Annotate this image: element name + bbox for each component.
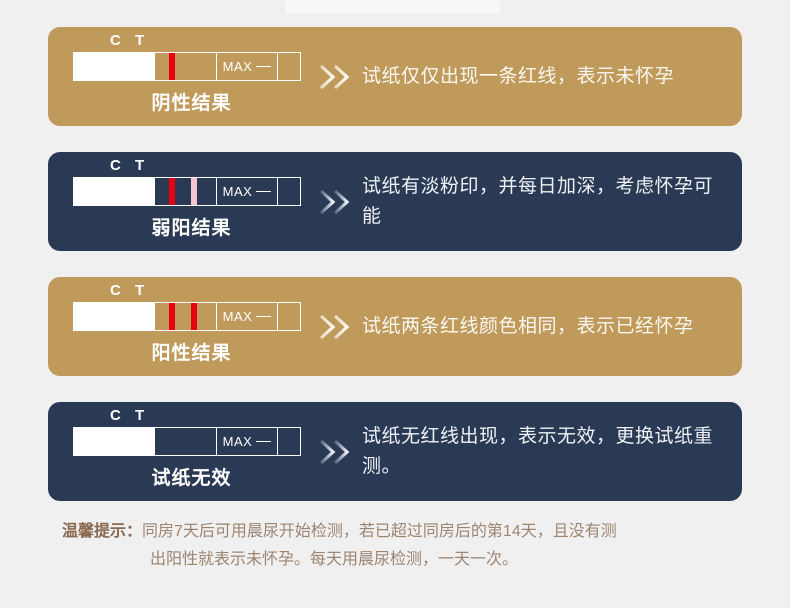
max-label: MAX	[223, 60, 253, 73]
strip-max-section: MAX	[217, 302, 278, 331]
strip-max-section: MAX	[217, 177, 278, 206]
ct-marker-label: C T	[110, 283, 149, 299]
max-dash-icon	[256, 316, 271, 318]
max-label: MAX	[223, 435, 253, 448]
result-panel-negative: C T MAX 阴性结果	[48, 27, 742, 126]
ct-marker-label: C T	[110, 408, 149, 424]
double-chevron-right-icon	[310, 60, 362, 94]
strip-absorbent-pad	[73, 52, 155, 81]
result-description: 试纸无红线出现，表示无效，更换试纸重测。	[362, 422, 742, 482]
test-line	[191, 178, 197, 205]
result-description: 试纸仅仅出现一条红线，表示未怀孕	[362, 62, 742, 92]
test-strip: MAX	[73, 177, 301, 206]
double-chevron-right-icon	[310, 435, 362, 469]
strip-end-cap	[278, 177, 301, 206]
test-line	[191, 428, 197, 455]
strip-absorbent-pad	[73, 177, 155, 206]
result-panel-weak-positive: C T MAX 弱阳结果	[48, 152, 742, 251]
warm-tip-note: 温馨提示：同房7天后可用晨尿开始检测，若已超过同房后的第14天，且没有测出阳性就…	[62, 518, 732, 574]
max-dash-icon	[256, 191, 271, 193]
double-chevron-right-icon	[310, 185, 362, 219]
strip-end-cap	[278, 52, 301, 81]
result-caption: 阳性结果	[48, 338, 310, 365]
result-caption: 阴性结果	[48, 88, 310, 115]
strip-result-window	[155, 302, 216, 331]
test-line	[191, 303, 197, 330]
warm-tip-line2: 出阳性就表示未怀孕。每天用晨尿检测，一天一次。	[62, 546, 732, 574]
strip-absorbent-pad	[73, 427, 155, 456]
control-line	[169, 53, 175, 80]
result-panel-positive: C T MAX 阳性结果	[48, 277, 742, 376]
ct-marker-label: C T	[110, 158, 149, 174]
result-panel-list: C T MAX 阴性结果	[48, 27, 742, 527]
strip-end-cap	[278, 302, 301, 331]
test-strip: MAX	[73, 302, 301, 331]
test-strip-illustration-weak-positive: C T MAX 弱阳结果	[48, 152, 310, 251]
max-dash-icon	[256, 66, 271, 68]
strip-result-window	[155, 427, 216, 456]
test-strip: MAX	[73, 427, 301, 456]
control-line	[169, 428, 175, 455]
result-caption: 弱阳结果	[48, 213, 310, 240]
max-dash-icon	[256, 441, 271, 443]
max-label: MAX	[223, 310, 253, 323]
result-description: 试纸有淡粉印，并每日加深，考虑怀孕可能	[362, 172, 742, 232]
test-strip-illustration-positive: C T MAX 阳性结果	[48, 277, 310, 376]
warm-tip-label: 温馨提示：	[62, 523, 142, 540]
test-strip: MAX	[73, 52, 301, 81]
result-caption: 试纸无效	[48, 463, 310, 490]
ct-marker-label: C T	[110, 33, 149, 49]
result-panel-invalid: C T MAX 试纸无效	[48, 402, 742, 501]
strip-result-window	[155, 177, 216, 206]
test-strip-illustration-invalid: C T MAX 试纸无效	[48, 402, 310, 501]
strip-end-cap	[278, 427, 301, 456]
test-strip-illustration-negative: C T MAX 阴性结果	[48, 27, 310, 126]
double-chevron-right-icon	[310, 310, 362, 344]
strip-max-section: MAX	[217, 52, 278, 81]
strip-result-window	[155, 52, 216, 81]
control-line	[169, 303, 175, 330]
result-description: 试纸两条红线颜色相同，表示已经怀孕	[362, 312, 742, 342]
strip-absorbent-pad	[73, 302, 155, 331]
max-label: MAX	[223, 185, 253, 198]
strip-max-section: MAX	[217, 427, 278, 456]
warm-tip-line1: 同房7天后可用晨尿开始检测，若已超过同房后的第14天，且没有测	[142, 523, 617, 540]
control-line	[169, 178, 175, 205]
test-line	[191, 53, 197, 80]
top-ghost-band	[285, 0, 500, 14]
